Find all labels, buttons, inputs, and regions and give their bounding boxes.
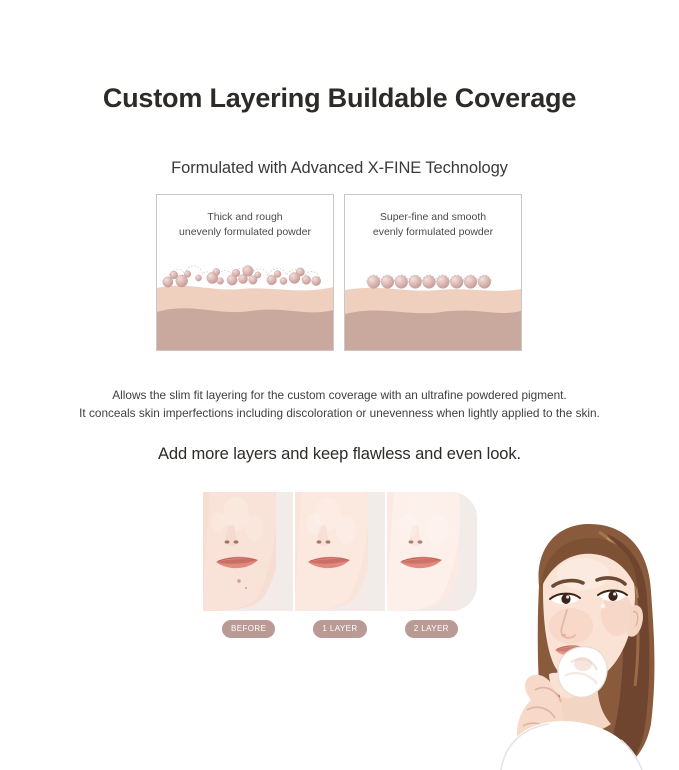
powder-particles-uneven — [157, 242, 333, 294]
panel-caption-line1: Super-fine and smooth — [345, 210, 521, 225]
body-copy-line1: Allows the slim fit layering for the cus… — [0, 386, 679, 404]
panel-caption-line1: Thick and rough — [157, 210, 333, 225]
layering-photo-1layer — [295, 492, 385, 611]
status-badge-2layer: 2 LAYER — [405, 620, 458, 638]
layering-photo-2layer — [387, 492, 477, 611]
page-subtitle: Formulated with Advanced X-FINE Technolo… — [0, 159, 679, 178]
powder-particles-even — [345, 242, 521, 294]
badge-slot-before: BEFORE — [203, 620, 294, 638]
layering-photo-strip — [203, 492, 477, 611]
body-copy-line2: It conceals skin imperfections including… — [0, 404, 679, 422]
layering-badges: BEFORE 1 LAYER 2 LAYER — [203, 620, 477, 638]
panel-caption-uneven: Thick and rough unevenly formulated powd… — [157, 210, 333, 240]
panel-caption-even: Super-fine and smooth evenly formulated … — [345, 210, 521, 240]
layering-photo-before — [203, 492, 293, 611]
powder-comparison-diagram: Thick and rough unevenly formulated powd… — [156, 194, 524, 353]
model-photo — [479, 514, 679, 770]
panel-caption-line2: unevenly formulated powder — [157, 225, 333, 240]
badge-slot-2layer: 2 LAYER — [386, 620, 477, 638]
badge-slot-1layer: 1 LAYER — [294, 620, 385, 638]
panel-caption-line2: evenly formulated powder — [345, 225, 521, 240]
body-copy: Allows the slim fit layering for the cus… — [0, 386, 679, 422]
callout-heading: Add more layers and keep flawless and ev… — [0, 445, 679, 464]
status-badge-1layer: 1 LAYER — [313, 620, 366, 638]
page-title: Custom Layering Buildable Coverage — [0, 83, 679, 114]
comparison-panel-even: Super-fine and smooth evenly formulated … — [344, 194, 522, 351]
comparison-panel-uneven: Thick and rough unevenly formulated powd… — [156, 194, 334, 351]
status-badge-before: BEFORE — [222, 620, 275, 638]
